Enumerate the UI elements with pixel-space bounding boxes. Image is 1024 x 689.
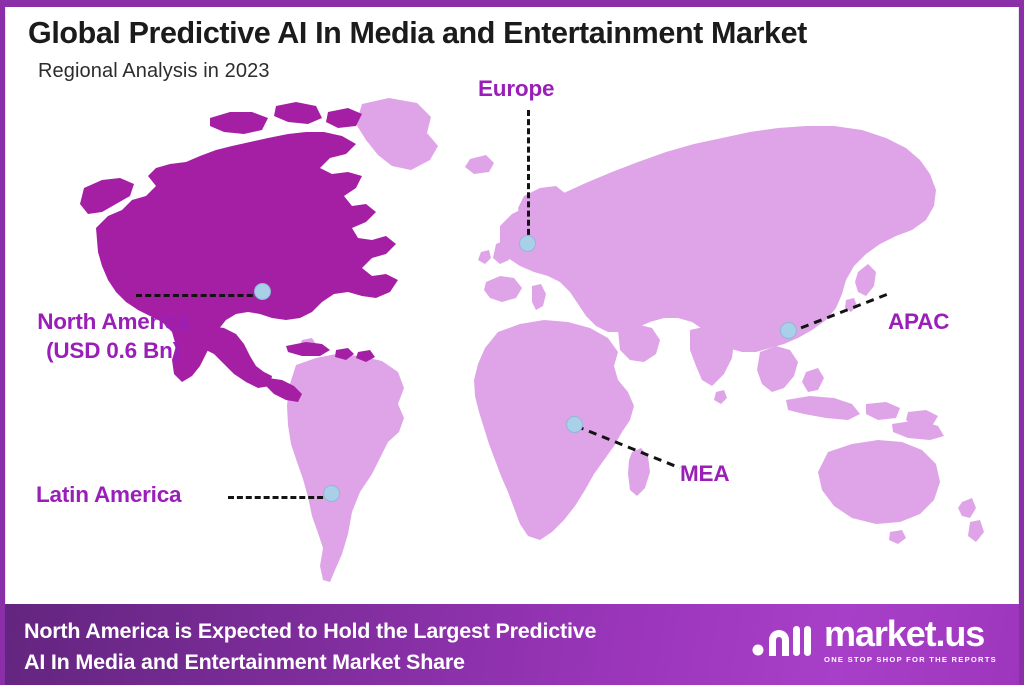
map-marker-apac[interactable]: [780, 322, 797, 339]
page-subtitle: Regional Analysis in 2023: [38, 60, 270, 83]
leader-line-europe: [527, 110, 530, 244]
leader-line-north-america: [136, 294, 262, 297]
map-marker-europe[interactable]: [519, 235, 536, 252]
banner-headline: North America is Expected to Hold the La…: [24, 616, 744, 677]
logo-text-block: market.us ONE STOP SHOP FOR THE REPORTS: [824, 616, 997, 664]
bottom-banner: North America is Expected to Hold the La…: [5, 604, 1019, 685]
region-label-north-america: North America (USD 0.6 Bn): [11, 307, 215, 366]
leader-line-apac: [780, 288, 896, 342]
map-marker-mea[interactable]: [566, 416, 583, 433]
region-label-north-america-name: North America: [11, 307, 215, 336]
infographic-canvas: Global Predictive AI In Media and Entert…: [0, 0, 1024, 689]
logo-wordmark: market.us: [824, 616, 997, 652]
region-label-europe: Europe: [478, 76, 554, 102]
region-label-north-america-value: (USD 0.6 Bn): [11, 336, 215, 365]
leader-line-latin-america: [228, 496, 332, 499]
banner-headline-line2: AI In Media and Entertainment Market Sha…: [24, 647, 744, 678]
logo-tagline: ONE STOP SHOP FOR THE REPORTS: [824, 655, 997, 664]
region-label-mea: MEA: [680, 461, 729, 487]
frame-border-left: [0, 0, 5, 689]
leader-line-mea: [568, 418, 692, 474]
frame-border-right: [1019, 0, 1024, 689]
page-title: Global Predictive AI In Media and Entert…: [28, 16, 807, 51]
market-us-logo-icon: [751, 618, 813, 662]
banner-headline-line1: North America is Expected to Hold the La…: [24, 616, 744, 647]
frame-border-top: [0, 0, 1024, 7]
map-marker-latin-america[interactable]: [323, 485, 340, 502]
map-marker-north-america[interactable]: [254, 283, 271, 300]
region-label-latin-america: Latin America: [36, 482, 181, 508]
brand-logo[interactable]: market.us ONE STOP SHOP FOR THE REPORTS: [751, 616, 997, 664]
frame-border-bottom: [0, 685, 1024, 689]
region-label-apac: APAC: [888, 309, 949, 335]
